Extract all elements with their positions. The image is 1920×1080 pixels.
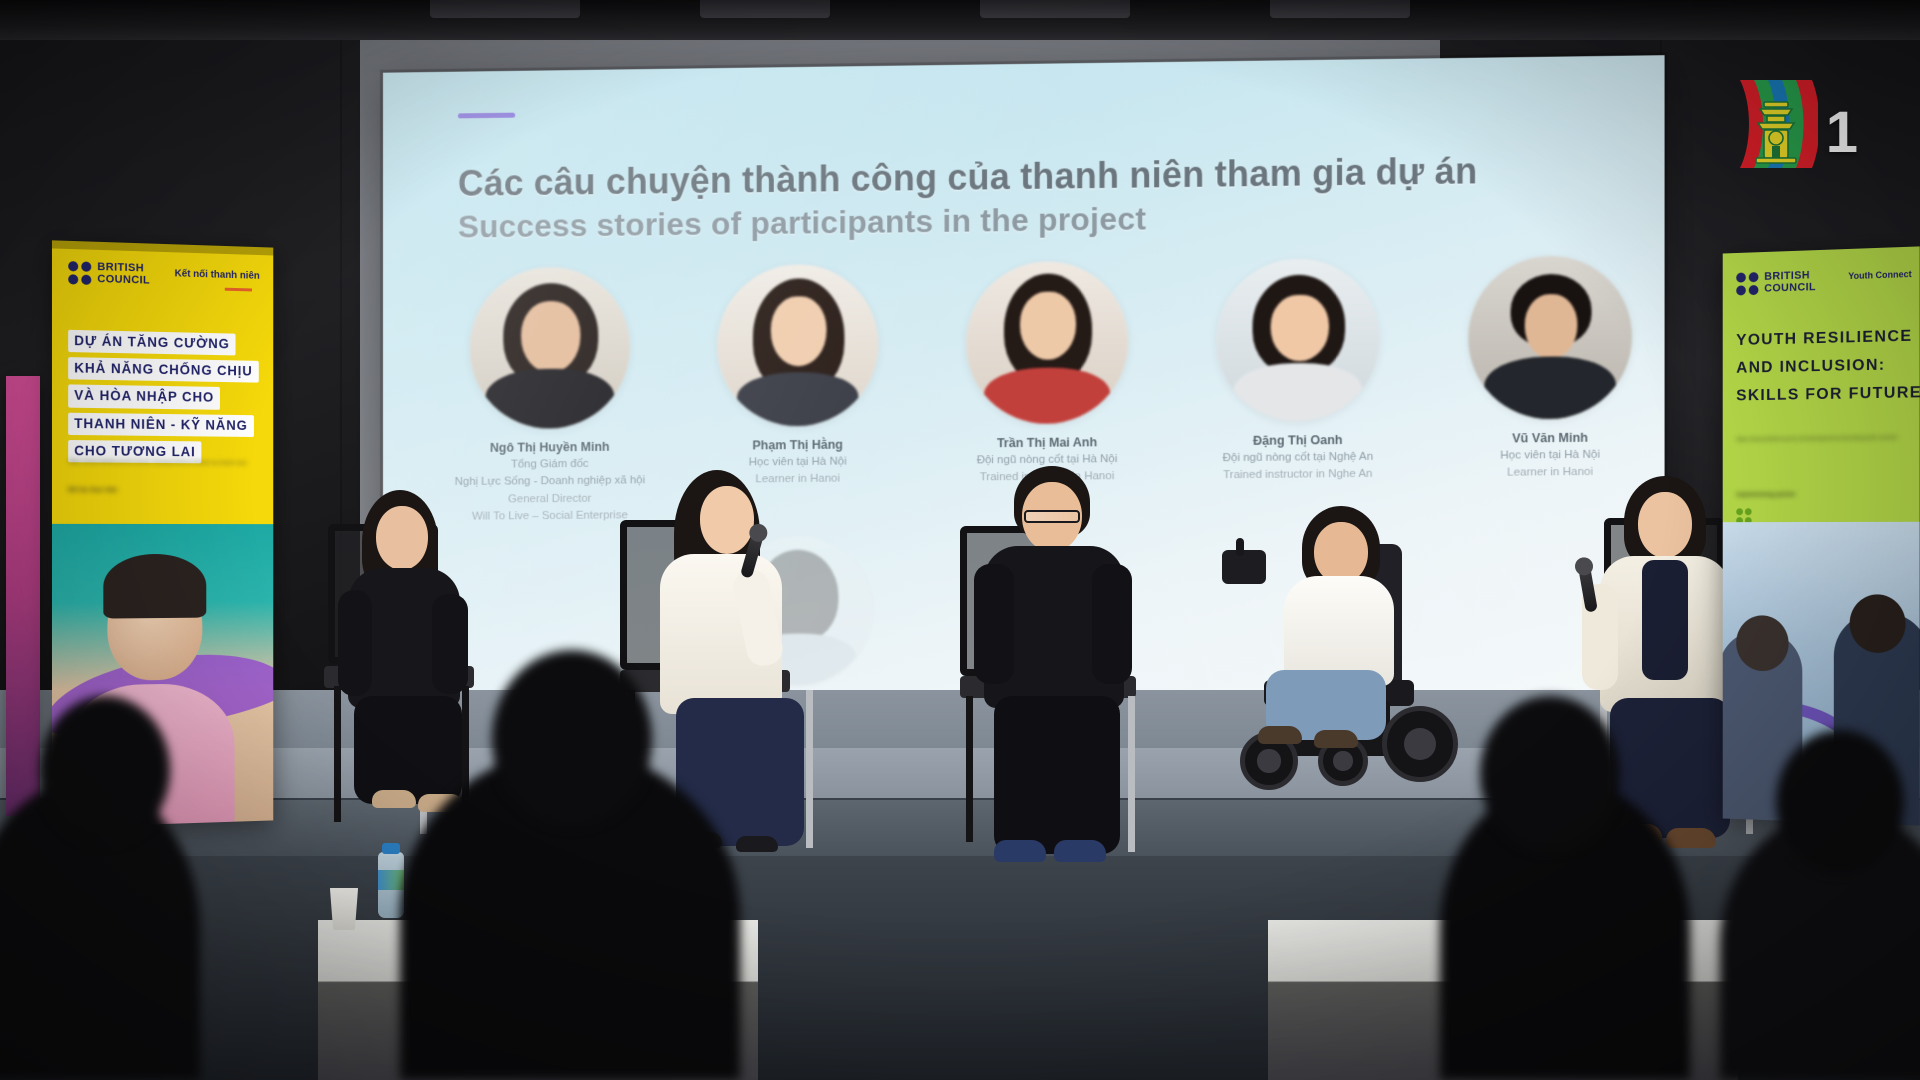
inner-top-dark xyxy=(1642,560,1688,680)
audience-head xyxy=(1480,696,1620,852)
shoe xyxy=(372,790,416,808)
profile-name: Trần Thị Mai Anh xyxy=(950,433,1144,453)
head xyxy=(376,506,428,570)
banner-tagline-rule xyxy=(225,288,252,292)
british-council-wordmark: BRITISH COUNCIL xyxy=(97,262,150,287)
headline-line: YOUTH RESILIENCE xyxy=(1736,327,1920,350)
legs xyxy=(354,696,462,804)
slide-accent-bar xyxy=(458,113,515,119)
broadcast-frame: Các câu chuyện thành công của thanh niên… xyxy=(0,0,1920,1080)
ceiling-light xyxy=(700,0,830,18)
profile-role-vi: Đội ngũ nòng cốt tại Nghệ An xyxy=(1200,449,1395,468)
headline-line: KHẢ NĂNG CHỐNG CHỊU xyxy=(68,357,258,383)
profile-role-vi: Tổng Giám đốc xyxy=(454,456,646,475)
profile-org-vi: Nghị Lực Sống - Doanh nghiệp xã hội xyxy=(454,473,646,492)
ceiling xyxy=(0,0,1920,40)
brand-line-2: COUNCIL xyxy=(97,274,150,287)
profile-role-vi: Học viên tại Hà Nội xyxy=(1452,446,1648,465)
hanoi-tv-h-mark-icon xyxy=(1734,76,1818,172)
sandal xyxy=(1258,726,1302,744)
arm-left xyxy=(974,564,1014,684)
avatar xyxy=(470,266,630,429)
headline-line: AND INCLUSION: xyxy=(1736,355,1920,378)
audience-head xyxy=(492,650,652,828)
banner-credit: Đối tác thực hiện xyxy=(68,488,117,494)
profile-card: Đặng Thị Oanh Đội ngũ nòng cốt tại Nghệ … xyxy=(1200,258,1395,520)
headline-line: SKILLS FOR FUTURE xyxy=(1736,383,1920,405)
banner-url: https://www.britishcouncil.vn/en/program… xyxy=(1736,434,1920,443)
banner-tagline: Youth Connect xyxy=(1848,269,1911,281)
channel-number: 1 xyxy=(1826,104,1858,162)
head xyxy=(1314,522,1368,584)
headline-line: DỰ ÁN TĂNG CƯỜNG xyxy=(68,330,235,356)
eyeglasses xyxy=(1024,510,1080,523)
british-council-dots-icon xyxy=(68,261,91,285)
british-council-logo: BRITISH COUNCIL xyxy=(1736,270,1816,296)
panelist-4-power-wheelchair-white-jacket xyxy=(1240,510,1490,880)
bottle-cap xyxy=(382,843,400,854)
ceiling-light xyxy=(430,0,580,18)
profile-name: Đặng Thị Oanh xyxy=(1200,430,1395,450)
british-council-dots-icon xyxy=(1736,272,1758,296)
photo-subject-hair xyxy=(103,554,206,619)
arm-left xyxy=(338,590,372,696)
paper-cup xyxy=(328,888,360,930)
profile-name: Vũ Văn Minh xyxy=(1452,428,1648,448)
sneaker xyxy=(994,840,1046,862)
banner-credit: Implementing partner xyxy=(1736,492,1796,498)
sneaker xyxy=(1054,840,1106,862)
audience-head xyxy=(40,696,170,844)
profile-name: Phạm Thị Hằng xyxy=(701,435,894,455)
channel-logo: 1 xyxy=(1734,76,1858,172)
shoe xyxy=(1666,828,1716,848)
banner-headline: YOUTH RESILIENCE AND INCLUSION: SKILLS F… xyxy=(1736,327,1920,416)
arm-right xyxy=(1092,564,1132,684)
avatar xyxy=(717,264,878,427)
british-council-wordmark: BRITISH COUNCIL xyxy=(1764,270,1816,295)
profile-card: Ngô Thị Huyền Minh Tổng Giám đốc Nghị Lự… xyxy=(454,266,646,526)
ceiling-light xyxy=(980,0,1130,18)
banner-tagline: Kết nối thanh niên xyxy=(175,268,260,281)
audience-head xyxy=(1776,730,1904,874)
photo-subject-head xyxy=(1736,615,1788,671)
head xyxy=(1638,492,1692,558)
bottle-label xyxy=(378,870,404,890)
banner-headline: DỰ ÁN TĂNG CƯỜNG KHẢ NĂNG CHỐNG CHỊU VÀ … xyxy=(68,330,262,469)
arm-right xyxy=(432,594,468,694)
avatar xyxy=(1468,255,1632,420)
head xyxy=(700,486,754,554)
headline-line: VÀ HÒA NHẬP CHO xyxy=(68,385,220,410)
shoe-heel xyxy=(736,836,778,852)
panelist-3-seated-glasses-black-shirt xyxy=(960,470,1210,870)
brand-line-2: COUNCIL xyxy=(1764,282,1816,295)
ceiling-light xyxy=(1270,0,1410,18)
profile-name: Ngô Thị Huyền Minh xyxy=(454,437,646,457)
profile-role-en: Trained instructor in Nghe An xyxy=(1200,466,1395,485)
joystick-controller xyxy=(1222,550,1266,584)
banner-left-secondary-edge xyxy=(6,376,40,816)
avatar xyxy=(966,261,1128,425)
headline-line: THANH NIÊN - KỸ NĂNG xyxy=(68,412,253,436)
sandal xyxy=(1314,730,1358,748)
british-council-logo: BRITISH COUNCIL xyxy=(68,261,150,287)
avatar xyxy=(1216,258,1379,422)
legs-black-trousers xyxy=(994,696,1120,854)
photo-subject-head xyxy=(1850,594,1906,653)
